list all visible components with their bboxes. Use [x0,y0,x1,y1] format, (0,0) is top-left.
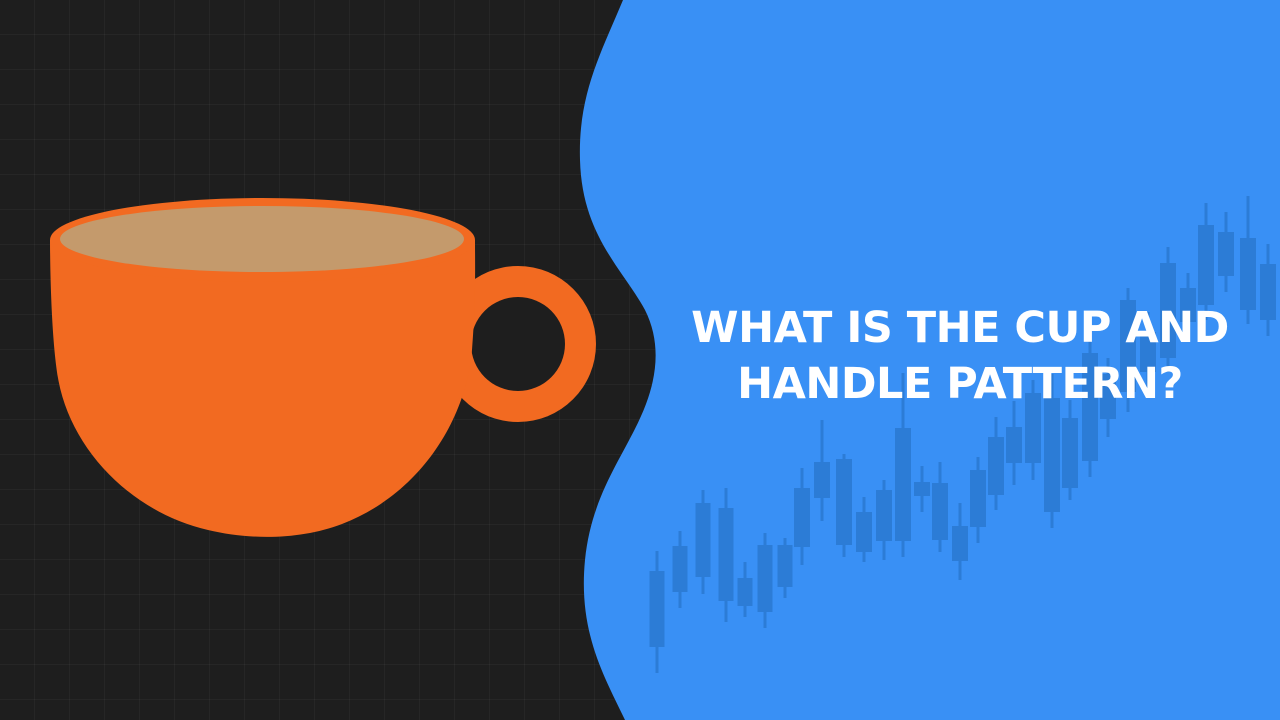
candle-body [970,470,986,527]
page-title: WHAT IS THE CUP AND HANDLE PATTERN? [660,300,1260,412]
candle-body [1044,398,1060,512]
poster-canvas: WHAT IS THE CUP AND HANDLE PATTERN? [0,0,1280,720]
candle-body [1218,232,1234,276]
candle-body [719,508,734,601]
candle-body [673,546,688,592]
candle-body [814,462,830,498]
candle-body [794,488,810,547]
candle-body [1062,418,1078,488]
candle-body [1260,264,1276,320]
candle-body [932,483,948,540]
candle-body [895,428,911,541]
candle-body [758,545,773,612]
candle-body [988,437,1004,495]
candle-body [650,571,665,647]
candle-body [738,578,753,606]
candle-body [952,526,968,561]
candle-body [778,545,793,587]
candle-body [914,482,930,496]
candle-body [836,459,852,545]
candle-body [856,512,872,552]
candle-body [1006,427,1022,463]
candle-body [876,490,892,541]
candle-body [1198,225,1214,305]
candle-body [696,503,711,577]
